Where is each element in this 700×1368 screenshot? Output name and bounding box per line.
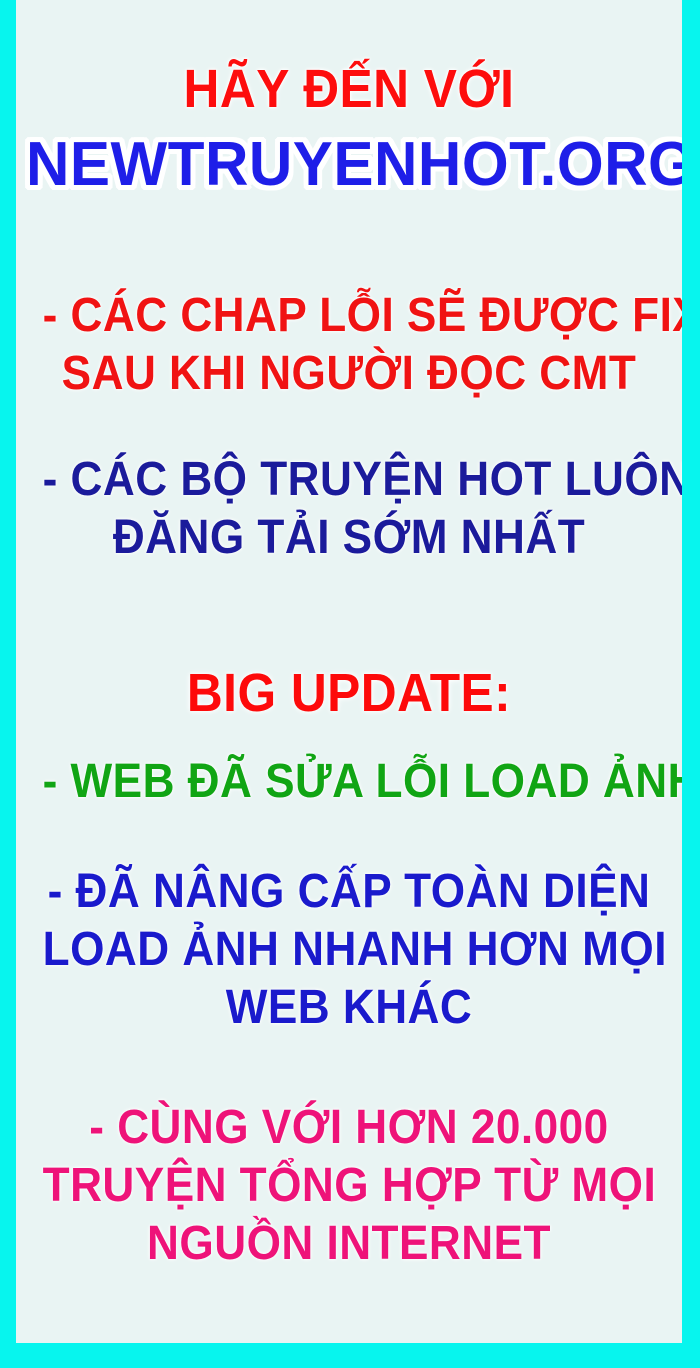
update-item-blue-line-3: WEB KHÁC bbox=[43, 984, 656, 1032]
notice-navy-line-2: ĐĂNG TẢI SỚM NHẤT bbox=[43, 514, 656, 562]
update-item-blue-line-2: LOAD ẢNH NHANH HƠN MỌI bbox=[43, 926, 656, 974]
notice-navy-line-1: - CÁC BỘ TRUYỆN HOT LUÔN bbox=[43, 456, 656, 504]
notice-red-line-1: - CÁC CHAP LỖI SẼ ĐƯỢC FIX bbox=[43, 292, 656, 340]
headline-site-url[interactable]: NEWTRUYENHOT.ORG bbox=[26, 134, 672, 196]
update-item-blue-line-1: - ĐÃ NÂNG CẤP TOÀN DIỆN bbox=[43, 868, 656, 916]
notice-red-line-2: SAU KHI NGƯỜI ĐỌC CMT bbox=[43, 350, 656, 398]
update-item-pink-line-2: TRUYỆN TỔNG HỢP TỪ MỌI bbox=[43, 1162, 656, 1210]
content-panel: HÃY ĐẾN VỚI NEWTRUYENHOT.ORG - CÁC CHAP … bbox=[16, 0, 682, 1343]
update-item-green-line-1: - WEB ĐÃ SỬA LỖI LOAD ẢNH bbox=[43, 758, 656, 806]
bottom-cyan-band bbox=[0, 1343, 700, 1368]
update-item-pink-line-1: - CÙNG VỚI HƠN 20.000 bbox=[43, 1104, 656, 1152]
update-section-heading: BIG UPDATE: bbox=[43, 666, 656, 720]
update-item-pink-line-3: NGUỒN INTERNET bbox=[43, 1220, 656, 1268]
promo-banner: HÃY ĐẾN VỚI NEWTRUYENHOT.ORG - CÁC CHAP … bbox=[0, 0, 700, 1368]
headline-call-to-action: HÃY ĐẾN VỚI bbox=[43, 62, 656, 116]
